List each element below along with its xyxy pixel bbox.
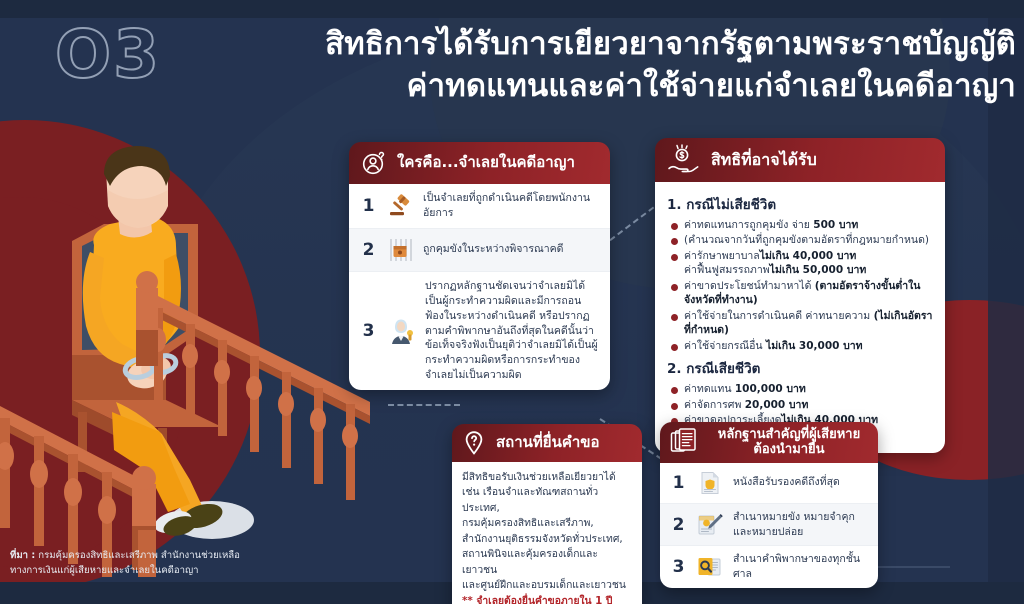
bullet-text: (คำนวณจากวันที่ถูกคุมขังตามอัตราที่กฎหมา… (684, 233, 929, 247)
place-line: สำนักงานยุติธรรมจังหวัดทั่วประเทศ, (462, 532, 632, 547)
card-submission-place: สถานที่ยื่นคำขอ มีสิทธิขอรับเงินช่วยเหลื… (452, 424, 642, 604)
bullet-dot (671, 387, 678, 394)
infographic-stage: O3 สิทธิการได้รับการเยียวยาจากรัฐตามพระร… (0, 0, 1024, 604)
list-item-text: ถูกคุมขังในระหว่างพิจารณาคดี (423, 242, 563, 257)
place-warning-line: ** จำเลยต้องยื่นคำขอภายใน 1 ปี (462, 594, 632, 604)
list-item-number: 3 (360, 321, 377, 341)
prison-bars-icon (386, 236, 414, 264)
place-line: และศูนย์ฝึกและอบรมเด็กและเยาวชน (462, 578, 632, 593)
place-body-text: มีสิทธิขอรับเงินช่วยเหลือเยียวยาได้ เช่น… (462, 470, 632, 604)
card-evidence-body: 1 หนังสือรับรองคดีถึงที่สุด 2 (660, 463, 878, 589)
bullet-text: ค่าทดแทน 100,000 บาท (684, 382, 806, 396)
section-heading-deceased: 2. กรณีเสียชีวิต (667, 357, 935, 379)
page-title-line1: สิทธิการได้รับการเยียวยาจากรัฐตามพระราชบ… (325, 26, 1016, 62)
bullet-row: ค่าใช้จ่ายกรณีอื่น ไม่เกิน 30,000 บาท (671, 339, 935, 353)
card-evidence-title-line1: หลักฐานสำคัญที่ผู้เสียหาย (718, 427, 860, 442)
list-item: 1 เป็นจำเลยที่ถูกดำเนินคดีโดยพนักงานอัยก… (349, 184, 610, 229)
source-note: ที่มา : กรมคุ้มครองสิทธิและเสรีภาพ สำนัก… (10, 549, 340, 578)
list-item-text: ปรากฏหลักฐานชัดเจนว่าจำเลยมิได้เป็นผู้กร… (425, 279, 599, 383)
card-rights-header: สิทธิที่อาจได้รับ (655, 138, 945, 182)
list-item-text: สำเนาหมายขัง หมายจำคุก และหมายปล่อย (733, 510, 855, 540)
bullet-text: ค่าจัดการศพ 20,000 บาท (684, 398, 808, 412)
location-question-icon (462, 430, 486, 456)
card-who-body: 1 เป็นจำเลยที่ถูกดำเนินคดีโดยพนักงานอัยก… (349, 184, 610, 390)
card-who-header: ใครคือ...จำเลยในคดีอาญา (349, 142, 610, 184)
list-item: 1 หนังสือรับรองคดีถึงที่สุด (660, 463, 878, 504)
bullet-text: ค่าใช้จ่ายในการดำเนินคดี ค่าทนายความ (ไม… (684, 309, 935, 338)
list-item-text: สำเนาคำพิพากษาของทุกชั้นศาล (733, 552, 868, 582)
bullet-dot (671, 238, 678, 245)
source-label: ที่มา : กรมคุ้มครองสิทธิและเสรีภาพ สำนัก… (10, 550, 240, 561)
card-who-is-defendant: ใครคือ...จำเลยในคดีอาญา 1 เป็นจำเลยที่ถู… (349, 142, 610, 390)
person-question-icon (361, 150, 387, 176)
magnifier-document-icon (696, 553, 724, 581)
card-who-title: ใครคือ...จำเลยในคดีอาญา (397, 154, 575, 172)
signed-document-icon (696, 511, 724, 539)
card-required-evidence: หลักฐานสำคัญที่ผู้เสียหาย ต้องนำมายื่น 1 (660, 422, 878, 588)
card-place-title: สถานที่ยื่นคำขอ (496, 434, 600, 452)
list-item-number: 2 (360, 240, 377, 260)
bullet-text: ค่าขาดประโยชน์ทำมาหาได้ (ตามอัตราจ้างขั้… (684, 279, 935, 308)
section-number: O3 (55, 22, 161, 88)
bullet-text: ค่าทดแทนการถูกคุมขัง จ่าย 500 บาท (684, 218, 858, 232)
bullet-text: ค่าใช้จ่ายกรณีอื่น ไม่เกิน 30,000 บาท (684, 339, 863, 353)
source-line2: ทางการเงินแก่ผู้เสียหายและจำเลยในคดีอาญา (10, 565, 199, 576)
section-heading-alive: 1. กรณีไม่เสียชีวิต (667, 193, 935, 215)
place-line: กรมคุ้มครองสิทธิและเสรีภาพ, (462, 516, 632, 531)
card-evidence-title-line2: ต้องนำมายื่น (753, 442, 824, 457)
list-item-number: 1 (360, 196, 377, 216)
list-item-number: 2 (670, 515, 687, 535)
bullet-row: ค่าจัดการศพ 20,000 บาท (671, 398, 935, 412)
bullet-row: ค่าขาดประโยชน์ทำมาหาได้ (ตามอัตราจ้างขั้… (671, 279, 935, 308)
gavel-icon (386, 192, 414, 220)
list-item: 2 สำเนาหมายขัง หมายจำคุก และหมายปล่อย (660, 504, 878, 547)
place-line: สถานพินิจและคุ้มครองเด็กและเยาวชน (462, 547, 632, 578)
card-evidence-header: หลักฐานสำคัญที่ผู้เสียหาย ต้องนำมายื่น (660, 422, 878, 463)
bullet-row: ค่าทดแทน 100,000 บาท (671, 382, 935, 396)
card-place-header: สถานที่ยื่นคำขอ (452, 424, 642, 462)
list-item-text: หนังสือรับรองคดีถึงที่สุด (733, 475, 840, 490)
bullet-dot (671, 344, 678, 351)
bullet-text: ค่ารักษาพยาบาลไม่เกิน 40,000 บาท ค่าฟื้น… (684, 249, 866, 278)
bullet-dot (671, 254, 678, 261)
bullet-row: ค่าใช้จ่ายในการดำเนินคดี ค่าทนายความ (ไม… (671, 309, 935, 338)
hand-coin-icon (667, 144, 701, 176)
documents-stack-icon (669, 427, 699, 457)
page-title: สิทธิการได้รับการเยียวยาจากรัฐตามพระราชบ… (236, 24, 1016, 107)
list-item: 3 สำเนาคำพิพากษาของทุกชั้นศาล (660, 546, 878, 588)
card-rights-body: 1. กรณีไม่เสียชีวิต ค่าทดแทนการถูกคุมขัง… (655, 182, 945, 453)
card-possible-rights: สิทธิที่อาจได้รับ 1. กรณีไม่เสียชีวิต ค่… (655, 138, 945, 453)
certificate-icon (696, 469, 724, 497)
card-place-body: มีสิทธิขอรับเงินช่วยเหลือเยียวยาได้ เช่น… (452, 462, 642, 604)
place-line: มีสิทธิขอรับเงินช่วยเหลือเยียวยาได้ (462, 470, 632, 485)
bullet-dot (671, 314, 678, 321)
judge-icon (386, 317, 416, 345)
bullet-row: ค่าทดแทนการถูกคุมขัง จ่าย 500 บาท (671, 218, 935, 232)
defendant-illustration-svg (0, 112, 370, 577)
list-item-text: เป็นจำเลยที่ถูกดำเนินคดีโดยพนักงานอัยการ (423, 191, 599, 221)
bullet-row: (คำนวณจากวันที่ถูกคุมขังตามอัตราที่กฎหมา… (671, 233, 935, 247)
illustration-defendant-in-dock (0, 112, 370, 577)
list-item: 2 ถูกคุมขังในระหว่างพิจารณาคดี (349, 229, 610, 272)
bullet-dot (671, 284, 678, 291)
card-rights-title: สิทธิที่อาจได้รับ (711, 151, 817, 170)
place-line: เช่น เรือนจำและทัณฑสถานทั่วประเทศ, (462, 485, 632, 516)
bullet-dot (671, 223, 678, 230)
card-evidence-title: หลักฐานสำคัญที่ผู้เสียหาย ต้องนำมายื่น (709, 427, 869, 458)
connector-dash-to-place (388, 404, 460, 406)
list-item-number: 1 (670, 473, 687, 493)
page-title-line2: ค่าทดแทนและค่าใช้จ่ายแก่จำเลยในคดีอาญา (236, 66, 1016, 108)
list-item: 3 ปรากฏหลักฐานชัดเจนว่าจำเลยมิได้เป็นผู้… (349, 272, 610, 390)
bullet-dot (671, 403, 678, 410)
list-item-number: 3 (670, 557, 687, 577)
bullet-row: ค่ารักษาพยาบาลไม่เกิน 40,000 บาท ค่าฟื้น… (671, 249, 935, 278)
